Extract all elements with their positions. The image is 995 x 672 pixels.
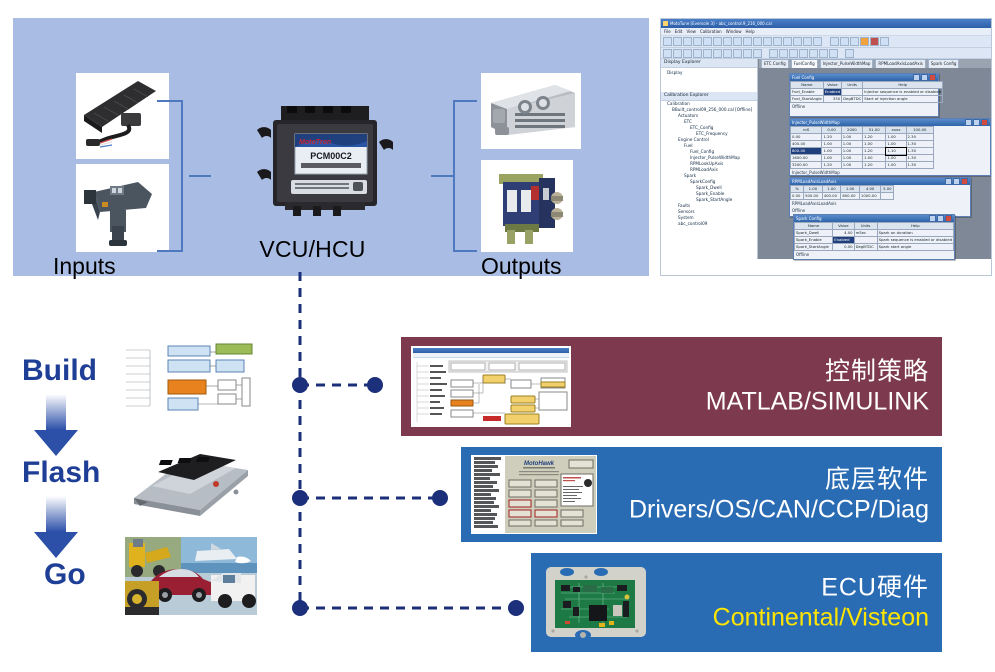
toolbar2-pointer-icon[interactable] <box>663 49 672 58</box>
table-row[interactable]: Spark_Dwell 4.00 mSec Spark on duration <box>795 230 954 237</box>
im-col-3: 51.00 <box>863 127 886 134</box>
im-r0-c0: 0.00 <box>791 134 822 141</box>
injector-map-table: mS 0.00 2000 51.00 xxxx 100.00 0.00 1.20… <box>790 126 934 169</box>
menu-help[interactable]: Help <box>746 29 755 34</box>
fuel-config-status: Offline <box>790 103 938 110</box>
node-end-hardware <box>508 600 524 616</box>
toolbar2-align-center-icon[interactable] <box>779 49 788 58</box>
sc-r0-units: mSec <box>854 230 877 237</box>
tab-fuel-config[interactable]: FuelConfig <box>791 59 818 68</box>
table-row[interactable]: 400.00 1.00 1.00 1.00 1.00 1.30 <box>791 141 934 148</box>
rpm-r0-c0[interactable]: 0.00 <box>791 193 804 200</box>
toolbar-calibrate-icon[interactable] <box>860 37 869 46</box>
banner-strategy-text: 控制策略 MATLAB/SIMULINK <box>706 356 929 417</box>
window-controls[interactable] <box>965 119 988 126</box>
im-r4-c5[interactable]: 1.30 <box>906 162 933 169</box>
calibration-tree[interactable]: Calibration BBuilt_control09_256_000.cal… <box>661 101 757 227</box>
brake-sensor-drawing <box>76 164 169 252</box>
toolbar-chart-icon[interactable] <box>783 37 792 46</box>
toolbar-save-icon[interactable] <box>683 37 692 46</box>
rpm-status: Offline <box>790 207 970 214</box>
toolbar-disconnect-icon[interactable] <box>840 37 849 46</box>
window-rpm-load-axis[interactable]: RPMLoadAxisLoadAxis % 1.00 1.00 1.00 4.0… <box>789 177 971 217</box>
injector-sheet-tab[interactable]: Injector_PulseWidthMap <box>790 169 990 176</box>
im-r4-c0: 3200.00 <box>791 162 822 169</box>
svg-text:MotoHawk: MotoHawk <box>524 461 555 467</box>
toolbar2-ungroup-icon[interactable] <box>809 49 818 58</box>
microcontroller-chip <box>589 605 607 621</box>
im-r1-c4[interactable]: 1.00 <box>886 141 906 148</box>
display-explorer-header: Display Explorer <box>661 59 757 68</box>
window-spark-title: Spark Config <box>796 216 822 221</box>
fc-r0-help: Injector sequence is enabled or disabled <box>863 89 943 96</box>
software-workspace: Display Explorer Display Calibration Exp… <box>661 59 991 259</box>
im-r2-c1[interactable]: 1.00 <box>822 148 841 155</box>
rpm-r0-c1[interactable]: 500.00 <box>804 193 823 200</box>
im-r4-c2[interactable]: 1.00 <box>841 162 862 169</box>
im-r3-c5[interactable]: 1.30 <box>906 155 933 162</box>
node-trunk-strategy <box>292 377 308 393</box>
rpm-sheet-tab[interactable]: RPMLoadAxisLoadAxis <box>790 200 970 207</box>
im-r3-c1[interactable]: 1.00 <box>822 155 841 162</box>
window-injector-pulsewidth-map[interactable]: Injector_PulseWidthMap mS 0.00 2000 51.0… <box>789 118 991 176</box>
im-r2-c4-selected[interactable]: 1.10 <box>886 148 906 155</box>
sc-r2-units: DegBTDC <box>854 244 877 251</box>
minimize-icon[interactable] <box>965 119 972 126</box>
toolbar-undo-icon[interactable] <box>733 37 742 46</box>
banner-lowlevel-text: 底层软件 Drivers/OS/CAN/CCP/Diag <box>629 464 929 525</box>
im-r3-c2[interactable]: 1.00 <box>841 155 862 162</box>
rpm-col-5: 5.00 <box>881 186 894 193</box>
toolbar-grid-icon[interactable] <box>793 37 802 46</box>
toolbar-cut-icon[interactable] <box>703 37 712 46</box>
window-controls[interactable] <box>913 74 936 81</box>
fuel-config-table: Name Value Units Help Fuel_Enable Enable… <box>790 81 943 103</box>
contactor-photo <box>481 160 573 252</box>
im-r0-c2[interactable]: 1.00 <box>841 134 862 141</box>
toolbar-connect-icon[interactable] <box>830 37 839 46</box>
brake-sensor-photo <box>76 164 169 252</box>
toolbar2-scope-icon[interactable] <box>753 49 762 58</box>
im-r0-c3[interactable]: 1.20 <box>863 134 886 141</box>
toolbar-record-icon[interactable] <box>870 37 879 46</box>
maximize-icon[interactable] <box>953 178 960 185</box>
window-rpm-title: RPMLoadAxisLoadAxis <box>792 179 836 184</box>
close-icon[interactable] <box>961 178 968 185</box>
banner-hardware-en: Continental/Visteon <box>713 603 929 634</box>
fc-col-name: Name <box>791 82 824 89</box>
toolbar-open-icon[interactable] <box>673 37 682 46</box>
spark-status: Offline <box>794 251 954 258</box>
document-tab-strip[interactable]: ETC Config FuelConfig Injector_PulseWidt… <box>759 59 991 68</box>
fc-col-units: Units <box>842 82 863 89</box>
im-r2-c5[interactable]: 1.30 <box>906 148 933 155</box>
window-spark-config[interactable]: Spark Config Name Value Units Help Spark… <box>793 214 955 260</box>
toolbar2-front-icon[interactable] <box>819 49 828 58</box>
im-col-5: 100.00 <box>906 127 933 134</box>
window-controls[interactable] <box>945 178 968 185</box>
sc-r2-value[interactable]: 0.00 <box>833 244 854 251</box>
im-r1-c2[interactable]: 1.00 <box>841 141 862 148</box>
fc-col-help: Help <box>863 82 943 89</box>
sc-r0-name: Spark_Dwell <box>795 230 833 237</box>
banner-hardware-cn: ECU硬件 <box>713 572 929 603</box>
toolbar-copy-icon[interactable] <box>713 37 722 46</box>
sc-r1-units <box>854 237 877 244</box>
banner-low-level-software: MotoHawk <box>461 447 942 542</box>
window-fuel-config[interactable]: Fuel Config Name Value Units Help Fuel_E… <box>789 73 939 117</box>
table-row[interactable]: 0.00 500.00 400.00 800.00 1000.00 <box>791 193 894 200</box>
node-trunk-hardware <box>292 600 308 616</box>
ecu-pcb-drawing <box>539 561 653 644</box>
banner-ecu-hardware: ECU硬件 Continental/Visteon <box>531 553 942 652</box>
close-icon[interactable] <box>945 215 952 222</box>
toolbar-zoom-out-icon[interactable] <box>763 37 772 46</box>
sc-r1-help: Spark sequence is enabled or disabled <box>877 237 953 244</box>
toolbar2-ellipse-icon[interactable] <box>693 49 702 58</box>
im-r2-c0: 800.00 <box>791 148 822 155</box>
tree-item-cal-file[interactable]: BBuilt_control09_256_000.cal [Offline] <box>661 107 757 113</box>
maximize-icon[interactable] <box>921 74 928 81</box>
im-r1-c0: 400.00 <box>791 141 822 148</box>
menu-calibration[interactable]: Calibration <box>700 29 722 34</box>
table-row[interactable]: 1600.00 1.00 1.00 1.00 1.00 1.30 <box>791 155 934 162</box>
im-col-1: 0.00 <box>822 127 841 134</box>
toolbar2-rect-icon[interactable] <box>683 49 692 58</box>
rpm-col-2: 1.00 <box>822 186 841 193</box>
table-row[interactable]: 3200.00 1.20 1.00 1.20 1.00 1.30 <box>791 162 934 169</box>
banner-strategy-cn: 控制策略 <box>706 356 929 387</box>
module-brand-text: MotoTron <box>299 139 331 146</box>
spark-config-table: Name Value Units Help Spark_Dwell 4.00 m… <box>794 222 954 251</box>
window-controls[interactable] <box>929 215 952 222</box>
close-icon[interactable] <box>981 119 988 126</box>
maximize-icon[interactable] <box>973 119 980 126</box>
fc-r0-name: Fuel_Enable <box>791 89 824 96</box>
fc-r1-value[interactable]: 330 <box>823 96 841 103</box>
rpm-col-4: 4.00 <box>859 186 880 193</box>
im-r1-c1[interactable]: 1.00 <box>822 141 841 148</box>
toolbar2-help-icon[interactable] <box>845 49 854 58</box>
window-rpm-titlebar[interactable]: RPMLoadAxisLoadAxis <box>790 178 970 185</box>
ecu-pcb-board-thumb <box>539 561 653 644</box>
toolbar-redo-icon[interactable] <box>743 37 752 46</box>
display-root-item[interactable]: Display <box>661 68 757 76</box>
toolbar-stop-icon[interactable] <box>880 37 889 46</box>
fc-r0-units <box>842 89 863 96</box>
sc-r2-name: Spark_StartAngle <box>795 244 833 251</box>
rpm-col-0: % <box>791 186 804 193</box>
inverter-drawing <box>481 73 581 149</box>
strategy-diagram-drawing <box>413 358 569 426</box>
toolbar2-group-icon[interactable] <box>799 49 808 58</box>
fc-r1-help: Start of injection angle <box>863 96 943 103</box>
toolbar-print-icon[interactable] <box>693 37 702 46</box>
toolbar2-align-right-icon[interactable] <box>789 49 798 58</box>
menu-view[interactable]: View <box>686 29 696 34</box>
rpm-col-3: 1.00 <box>841 186 860 193</box>
im-r4-c3[interactable]: 1.20 <box>863 162 886 169</box>
minimize-icon[interactable] <box>929 215 936 222</box>
tab-spark-config[interactable]: Spark Config <box>928 59 960 68</box>
toolbar-flash-icon[interactable] <box>850 37 859 46</box>
toolbar2-back-icon[interactable] <box>829 49 838 58</box>
toolbar-zoom-in-icon[interactable] <box>753 37 762 46</box>
sc-r0-value[interactable]: 4.00 <box>833 230 854 237</box>
banner-lowlevel-cn: 底层软件 <box>629 464 929 495</box>
im-r4-c1[interactable]: 1.20 <box>822 162 841 169</box>
node-trunk-lowlevel <box>292 490 308 506</box>
sc-col-help: Help <box>877 223 953 230</box>
tab-injector-map[interactable]: Injector_PulseWidthMap <box>820 59 874 68</box>
banner-lowlevel-en: Drivers/OS/CAN/CCP/Diag <box>629 495 929 526</box>
im-r0-c1[interactable]: 1.20 <box>822 134 841 141</box>
software-window-title: MotoTune [Eversole 3] - abc_control.9_21… <box>670 21 772 26</box>
software-toolbar-row-2[interactable] <box>661 48 991 59</box>
menu-file[interactable]: File <box>664 29 671 34</box>
driver-tree-pane <box>472 456 505 533</box>
im-col-0: mS <box>791 127 822 134</box>
tree-item-abc-control[interactable]: abc_control09 <box>661 221 757 227</box>
im-r3-c3[interactable]: 1.00 <box>863 155 886 162</box>
simulink-block-diagram-thumb <box>411 346 571 427</box>
toolbar-table-icon[interactable] <box>773 37 782 46</box>
toolbar-paste-icon[interactable] <box>723 37 732 46</box>
sc-r1-name: Spark_Enable <box>795 237 833 244</box>
window-spark-titlebar[interactable]: Spark Config <box>794 215 954 222</box>
im-col-2: 2000 <box>841 127 862 134</box>
rpm-axis-table: % 1.00 1.00 1.00 4.00 5.00 0.00 500.00 4… <box>790 185 894 200</box>
toolbar-map-icon[interactable] <box>803 37 812 46</box>
fc-r0-value[interactable]: Enabled <box>823 89 841 96</box>
im-r3-c0: 1600.00 <box>791 155 822 162</box>
toolbar2-line-icon[interactable] <box>673 49 682 58</box>
table-row[interactable]: Spark_Enable Enabled Spark sequence is e… <box>795 237 954 244</box>
driver-blocks-drawing: MotoHawk <box>505 456 597 534</box>
im-r1-c3[interactable]: 1.00 <box>863 141 886 148</box>
im-r0-c5[interactable]: 2.30 <box>906 134 933 141</box>
menu-window[interactable]: Window <box>726 29 742 34</box>
toolbar2-led-icon[interactable] <box>723 49 732 58</box>
toolbar-run-icon[interactable] <box>813 37 822 46</box>
banner-hardware-text: ECU硬件 Continental/Visteon <box>713 572 929 633</box>
motohawk-driver-config-thumb: MotoHawk <box>471 455 597 534</box>
sc-col-name: Name <box>795 223 833 230</box>
sc-r2-help: Spark start angle <box>877 244 953 251</box>
minimize-icon[interactable] <box>913 74 920 81</box>
software-toolbar-row-1[interactable] <box>661 36 991 48</box>
fc-col-value: Value <box>823 82 841 89</box>
software-menubar[interactable]: File Edit View Calibration Window Help <box>661 28 991 36</box>
app-icon <box>663 21 668 26</box>
tab-rpm-load-axis[interactable]: RPMLoadAxisLoadAxis <box>875 59 925 68</box>
im-col-4: xxxx <box>886 127 906 134</box>
calibration-explorer-header: Calibration Explorer <box>661 92 757 101</box>
minimize-icon[interactable] <box>945 178 952 185</box>
rpm-r0-c4[interactable]: 1000.00 <box>859 193 880 200</box>
toolbar2-gauge-icon[interactable] <box>713 49 722 58</box>
im-r0-c4[interactable]: 1.00 <box>886 134 906 141</box>
window-fuel-config-title: Fuel Config <box>792 75 814 80</box>
accelerator-pedal-drawing <box>76 73 169 159</box>
sc-col-value: Value <box>833 223 854 230</box>
menu-edit[interactable]: Edit <box>675 29 683 34</box>
node-end-strategy <box>367 377 383 393</box>
toolbar-new-icon[interactable] <box>663 37 672 46</box>
banner-control-strategy: 控制策略 MATLAB/SIMULINK <box>401 337 942 436</box>
ecu-module-drawing: MotoTron PCM00C2 <box>255 106 395 224</box>
table-row[interactable]: 800.00 1.00 1.00 1.20 1.10 1.30 <box>791 148 934 155</box>
rpm-r0-c3[interactable]: 800.00 <box>841 193 860 200</box>
explorer-column: Display Explorer Display Calibration Exp… <box>661 59 758 259</box>
sc-r0-help: Spark on duration <box>877 230 953 237</box>
close-icon[interactable] <box>929 74 936 81</box>
node-end-lowlevel <box>432 490 448 506</box>
im-r3-c4[interactable]: 1.00 <box>886 155 906 162</box>
rpm-col-1: 1.00 <box>804 186 823 193</box>
rpm-r0-c2[interactable]: 400.00 <box>822 193 841 200</box>
im-r2-c2[interactable]: 1.00 <box>841 148 862 155</box>
sc-r1-value[interactable]: Enabled <box>833 237 854 244</box>
vcu-hcu-label: VCU/HCU <box>230 236 395 263</box>
window-injector-titlebar[interactable]: Injector_PulseWidthMap <box>790 119 990 126</box>
rpm-r0-c5[interactable] <box>881 193 894 200</box>
table-row[interactable]: Fuel_Enable Enabled Injector sequence is… <box>791 89 943 96</box>
im-r2-c3[interactable]: 1.20 <box>863 148 886 155</box>
maximize-icon[interactable] <box>937 215 944 222</box>
table-row[interactable]: Spark_StartAngle 0.00 DegBTDC Spark star… <box>795 244 954 251</box>
inverter-photo <box>481 73 581 149</box>
table-row[interactable]: Fuel_StartAngle 330 DegBTDC Start of inj… <box>791 96 943 103</box>
toolbar2-slider-icon[interactable] <box>733 49 742 58</box>
driver-block-pane: MotoHawk <box>505 456 596 533</box>
tab-etc-config[interactable]: ETC Config <box>761 59 789 68</box>
toolbar2-align-left-icon[interactable] <box>769 49 778 58</box>
contactor-drawing <box>481 160 573 252</box>
fc-r1-units: DegBTDC <box>842 96 863 103</box>
simulink-window-mock <box>413 348 569 425</box>
accelerator-pedal-photo <box>76 73 169 159</box>
table-row[interactable]: 0.00 1.20 1.00 1.20 1.00 2.30 <box>791 134 934 141</box>
fc-r1-name: Fuel_StartAngle <box>791 96 824 103</box>
im-r4-c4[interactable]: 1.00 <box>886 162 906 169</box>
toolbar2-knob-icon[interactable] <box>743 49 752 58</box>
module-part-label: PCM00C2 <box>310 151 352 161</box>
window-fuel-config-titlebar[interactable]: Fuel Config <box>790 74 938 81</box>
software-titlebar: MotoTune [Eversole 3] - abc_control.9_21… <box>661 19 991 28</box>
sc-col-units: Units <box>854 223 877 230</box>
vcu-hcu-module-photo: MotoTron PCM00C2 <box>255 106 395 224</box>
im-r1-c5[interactable]: 1.30 <box>906 141 933 148</box>
mototune-software-screenshot: MotoTune [Eversole 3] - abc_control.9_21… <box>660 18 992 276</box>
banner-strategy-en: MATLAB/SIMULINK <box>706 387 929 418</box>
toolbar2-text-icon[interactable] <box>703 49 712 58</box>
window-injector-title: Injector_PulseWidthMap <box>792 120 840 125</box>
